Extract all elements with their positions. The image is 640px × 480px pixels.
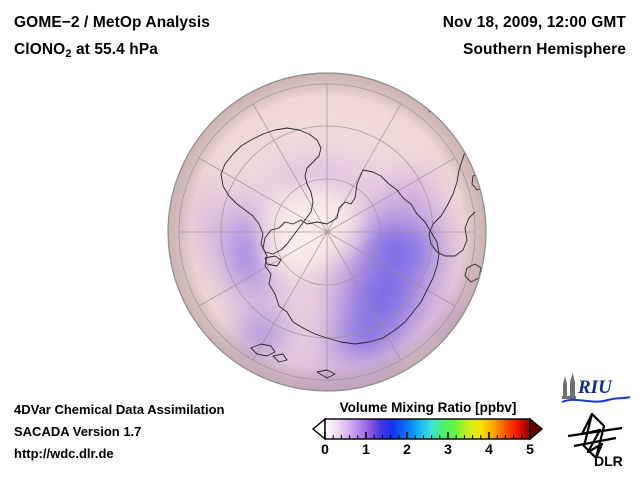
colorbar-tick-label: 4 [478,441,500,457]
colorbar [305,417,551,441]
colorbar-tick-labels: 012345 [305,441,551,463]
species-title: ClONO2 at 55.4 hPa [14,41,158,60]
species-level: at 55.4 hPa [72,41,159,58]
region-label: Southern Hemisphere [463,41,626,59]
colorbar-tick-label: 1 [355,441,377,457]
riu-logo: RIU [558,372,632,406]
wdc-url-link[interactable]: http://wdc.dlr.de [14,446,114,461]
colorbar-high-arrow [530,419,542,439]
datetime-label: Nov 18, 2009, 12:00 GMT [443,14,626,32]
colorbar-tick-label: 2 [396,441,418,457]
figure-canvas: GOME−2 / MetOp Analysis ClONO2 at 55.4 h… [0,0,640,480]
version-label: SACADA Version 1.7 [14,424,141,439]
colorbar-title: Volume Mixing Ratio [ppbv] [313,400,543,415]
cathedral-towers-icon [562,373,576,399]
colorbar-tick-label: 0 [314,441,336,457]
method-label: 4DVar Chemical Data Assimilation [14,402,225,417]
species-prefix: ClONO [14,41,65,58]
dlr-symbol-icon [568,414,622,458]
page-title: GOME−2 / MetOp Analysis [14,14,210,32]
colorbar-tick-label: 3 [437,441,459,457]
colorbar-tick-label: 5 [519,441,541,457]
dlr-wordmark: DLR [594,453,623,468]
colorbar-gradient [325,419,530,439]
riu-wordmark: RIU [577,377,613,398]
globe-map [167,72,487,392]
colorbar-low-arrow [313,419,325,439]
dlr-logo: DLR [558,412,632,468]
